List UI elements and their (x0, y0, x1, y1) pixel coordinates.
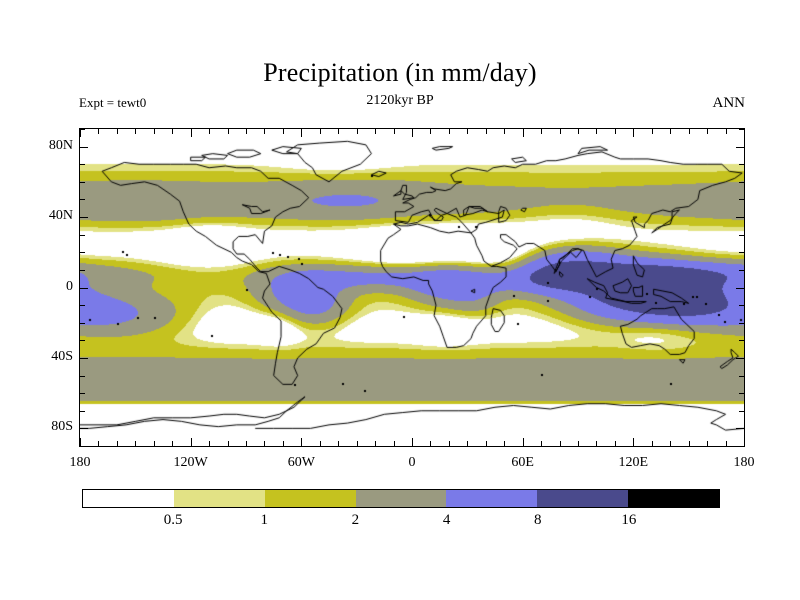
x-axis-tick (80, 438, 81, 446)
x-tick-label-180: 180 (704, 455, 784, 471)
colorbar-tick-8: 8 (508, 512, 568, 529)
x-axis-tick (670, 129, 671, 134)
x-axis-tick (412, 129, 413, 137)
x-axis-tick (560, 129, 561, 134)
x-axis-tick (172, 441, 173, 446)
x-axis-tick (430, 129, 431, 134)
map-plot-area (79, 128, 745, 447)
x-axis-tick (338, 129, 339, 134)
x-axis-tick (560, 441, 561, 446)
x-axis-tick (357, 129, 358, 134)
y-axis-tick (736, 288, 744, 289)
precipitation-contour-map (80, 129, 744, 446)
colorbar-tick-2: 2 (325, 512, 385, 529)
colorbar-band-5 (537, 490, 628, 507)
y-axis-tick (80, 323, 85, 324)
y-axis-tick (739, 340, 744, 341)
y-axis-tick (80, 235, 85, 236)
x-axis-tick (504, 129, 505, 134)
x-axis-tick (412, 438, 413, 446)
x-axis-tick (726, 441, 727, 446)
y-axis-tick (80, 129, 85, 130)
y-axis-tick (80, 446, 85, 447)
x-axis-tick (264, 129, 265, 134)
x-axis-tick (449, 441, 450, 446)
y-axis-tick (80, 376, 85, 377)
x-axis-tick (523, 129, 524, 137)
x-axis-tick (228, 441, 229, 446)
x-axis-tick (301, 129, 302, 137)
x-axis-tick (98, 441, 99, 446)
y-axis-tick (80, 252, 85, 253)
x-axis-tick (209, 129, 210, 134)
x-axis-tick (615, 441, 616, 446)
y-tick-label-0: 0 (27, 279, 73, 295)
x-axis-tick (172, 129, 173, 134)
x-tick-label-180: 180 (40, 455, 120, 471)
x-axis-tick (670, 441, 671, 446)
x-axis-tick (467, 129, 468, 134)
y-axis-tick (739, 323, 744, 324)
y-axis-tick (739, 164, 744, 165)
y-axis-tick (739, 235, 744, 236)
x-axis-tick (117, 129, 118, 134)
y-axis-tick (736, 147, 744, 148)
x-axis-tick (523, 438, 524, 446)
y-axis-tick (80, 199, 85, 200)
y-axis-tick (736, 217, 744, 218)
x-axis-tick (209, 441, 210, 446)
y-axis-tick (80, 428, 88, 429)
x-axis-tick (486, 441, 487, 446)
x-axis-tick (80, 129, 81, 137)
x-axis-tick (135, 441, 136, 446)
x-axis-tick (541, 441, 542, 446)
y-axis-tick (739, 270, 744, 271)
x-tick-label-60E: 60E (483, 455, 563, 471)
colorbar-tick-1: 1 (234, 512, 294, 529)
x-axis-tick (689, 129, 690, 134)
y-axis-tick (736, 428, 744, 429)
colorbar-tick-0.5: 0.5 (143, 512, 203, 529)
x-tick-label-120W: 120W (151, 455, 231, 471)
x-axis-tick (726, 129, 727, 134)
x-axis-tick (338, 441, 339, 446)
x-tick-label-0: 0 (372, 455, 452, 471)
colorbar-band-1 (174, 490, 265, 507)
colorbar-band-3 (356, 490, 447, 507)
y-axis-tick (739, 411, 744, 412)
x-axis-tick (357, 441, 358, 446)
x-axis-tick (744, 438, 745, 446)
x-axis-tick (430, 441, 431, 446)
x-axis-tick (504, 441, 505, 446)
x-axis-tick (375, 441, 376, 446)
x-axis-tick (283, 129, 284, 134)
y-axis-tick (739, 199, 744, 200)
x-tick-label-60W: 60W (261, 455, 341, 471)
x-axis-tick (615, 129, 616, 134)
experiment-label: Expt = tewt0 (79, 95, 146, 111)
x-axis-tick (744, 129, 745, 137)
x-axis-tick (707, 441, 708, 446)
x-axis-tick (394, 129, 395, 134)
y-axis-tick (739, 182, 744, 183)
x-axis-tick (191, 129, 192, 137)
x-axis-tick (652, 441, 653, 446)
y-axis-tick (80, 288, 88, 289)
y-axis-tick (739, 305, 744, 306)
y-axis-tick (80, 217, 88, 218)
colorbar-tick-16: 16 (599, 512, 659, 529)
y-axis-tick (80, 411, 85, 412)
x-axis-tick (467, 441, 468, 446)
y-axis-tick (80, 393, 85, 394)
x-axis-tick (154, 129, 155, 134)
y-axis-tick (736, 358, 744, 359)
y-axis-tick (80, 147, 88, 148)
x-axis-tick (449, 129, 450, 134)
x-axis-tick (633, 438, 634, 446)
colorbar-band-4 (446, 490, 537, 507)
precipitation-map-figure: Precipitation (in mm/day) 2120kyr BP Exp… (0, 0, 800, 600)
x-tick-label-120E: 120E (593, 455, 673, 471)
x-axis-tick (246, 129, 247, 134)
x-axis-tick (652, 129, 653, 134)
x-axis-tick (228, 129, 229, 134)
x-axis-tick (135, 129, 136, 134)
y-axis-tick (80, 270, 85, 271)
y-tick-label-80N: 80N (27, 138, 73, 154)
colorbar-band-6 (628, 490, 719, 507)
y-tick-label-80S: 80S (27, 419, 73, 435)
colorbar (82, 489, 720, 508)
x-axis-tick (98, 129, 99, 134)
colorbar-band-2 (265, 490, 356, 507)
colorbar-band-0 (83, 490, 174, 507)
y-axis-tick (739, 376, 744, 377)
x-axis-tick (486, 129, 487, 134)
y-axis-tick (80, 358, 88, 359)
y-axis-tick (739, 129, 744, 130)
page-title: Precipitation (in mm/day) (0, 58, 800, 88)
x-axis-tick (320, 129, 321, 134)
x-axis-tick (191, 438, 192, 446)
y-axis-tick (739, 393, 744, 394)
x-axis-tick (633, 129, 634, 137)
y-axis-tick (80, 164, 85, 165)
season-label: ANN (713, 95, 746, 112)
x-axis-tick (541, 129, 542, 134)
x-axis-tick (301, 438, 302, 446)
x-axis-tick (689, 441, 690, 446)
y-tick-label-40N: 40N (27, 208, 73, 224)
x-axis-tick (246, 441, 247, 446)
x-axis-tick (320, 441, 321, 446)
x-axis-tick (707, 129, 708, 134)
y-axis-tick (739, 252, 744, 253)
y-axis-tick (80, 340, 85, 341)
y-axis-tick (80, 182, 85, 183)
x-axis-tick (264, 441, 265, 446)
x-axis-tick (375, 129, 376, 134)
y-tick-label-40S: 40S (27, 349, 73, 365)
x-axis-tick (596, 441, 597, 446)
colorbar-tick-4: 4 (417, 512, 477, 529)
x-axis-tick (283, 441, 284, 446)
x-axis-tick (154, 441, 155, 446)
x-axis-tick (394, 441, 395, 446)
x-axis-tick (578, 441, 579, 446)
x-axis-tick (117, 441, 118, 446)
y-axis-tick (739, 446, 744, 447)
y-axis-tick (80, 305, 85, 306)
x-axis-tick (596, 129, 597, 134)
x-axis-tick (578, 129, 579, 134)
